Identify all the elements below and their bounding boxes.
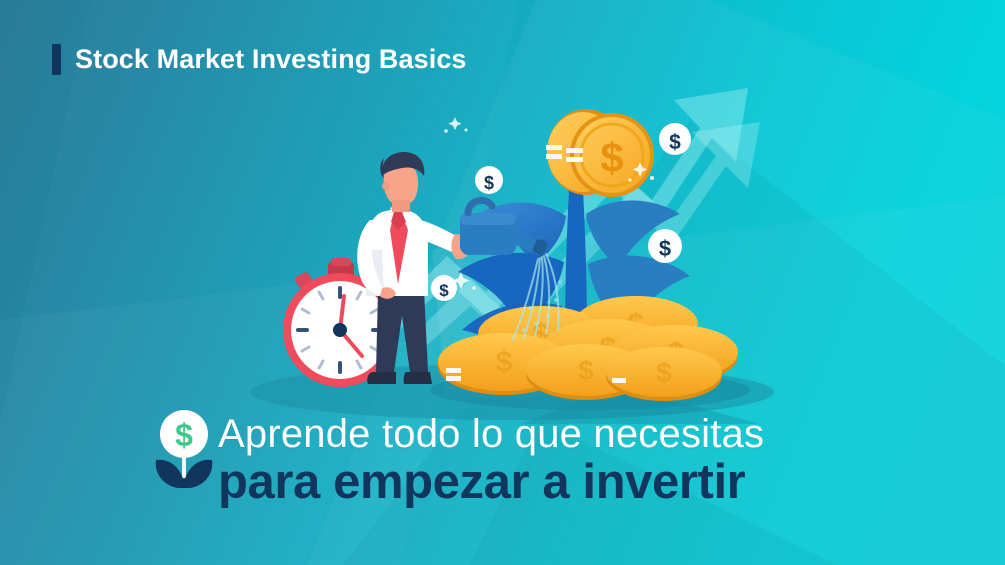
page-title: Stock Market Investing Basics bbox=[75, 44, 467, 75]
svg-text:$: $ bbox=[578, 355, 594, 386]
dollar-badge-4: $ bbox=[648, 229, 682, 263]
money-plant-logo: $ bbox=[150, 408, 220, 498]
banner-canvas: $ $ $ bbox=[0, 0, 1005, 565]
logo-dollar-symbol: $ bbox=[175, 417, 193, 453]
top-coin-symbol: $ bbox=[600, 134, 623, 181]
dollar-badge-1: $ bbox=[475, 166, 503, 194]
dollar-badge-3: $ bbox=[431, 275, 457, 301]
header: Stock Market Investing Basics bbox=[52, 44, 467, 75]
dollar-badge-2: $ bbox=[659, 123, 691, 155]
tagline-line-1: Aprende todo lo que necesitas bbox=[218, 412, 764, 457]
svg-text:$: $ bbox=[656, 357, 672, 388]
logo-leaf-right bbox=[184, 460, 212, 488]
svg-text:$: $ bbox=[659, 236, 671, 261]
title-accent-bar bbox=[52, 44, 61, 75]
svg-text:$: $ bbox=[484, 173, 494, 193]
top-coins: $ bbox=[546, 109, 654, 197]
logo-leaf-left bbox=[156, 460, 184, 488]
svg-text:$: $ bbox=[439, 281, 449, 300]
svg-text:$: $ bbox=[496, 346, 513, 379]
tagline-line-2: para empezar a invertir bbox=[218, 454, 745, 510]
svg-text:$: $ bbox=[669, 131, 681, 154]
